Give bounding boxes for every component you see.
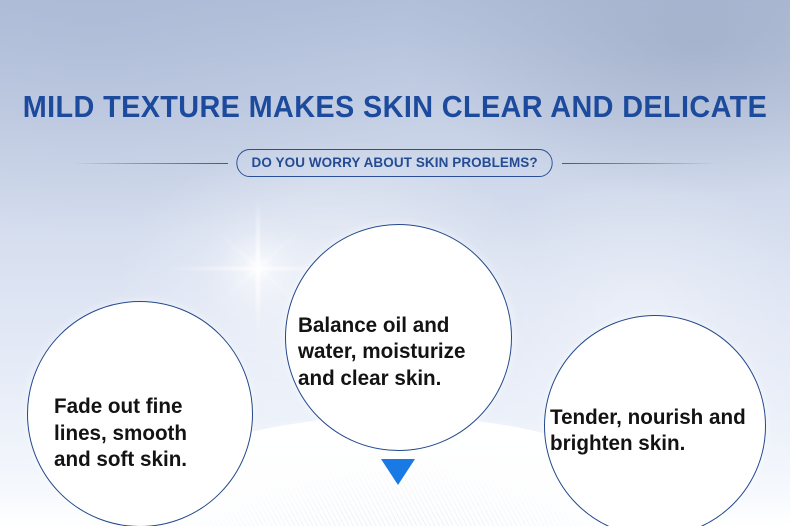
benefit-bubble-left: Fade out fine lines, smooth and soft ski… [27,301,253,526]
page-title: MILD TEXTURE MAKES SKIN CLEAR AND DELICA… [22,88,769,126]
badge-row: DO YOU WORRY ABOUT SKIN PROBLEMS? [0,148,790,178]
triangle-down-icon [381,459,415,485]
divider-line-left [76,163,228,164]
status-badge: DO YOU WORRY ABOUT SKIN PROBLEMS? [237,149,554,177]
benefit-bubble-center-text: Balance oil and water, moisturize and cl… [298,312,494,392]
benefit-bubble-left-text: Fade out fine lines, smooth and soft ski… [54,393,223,473]
promo-banner: MILD TEXTURE MAKES SKIN CLEAR AND DELICA… [0,0,790,526]
benefit-bubble-center: Balance oil and water, moisturize and cl… [285,224,512,451]
benefit-bubble-right: Tender, nourish and brighten skin. [544,315,766,526]
benefit-bubble-right-text: Tender, nourish and brighten skin. [550,404,754,457]
divider-line-right [562,163,714,164]
